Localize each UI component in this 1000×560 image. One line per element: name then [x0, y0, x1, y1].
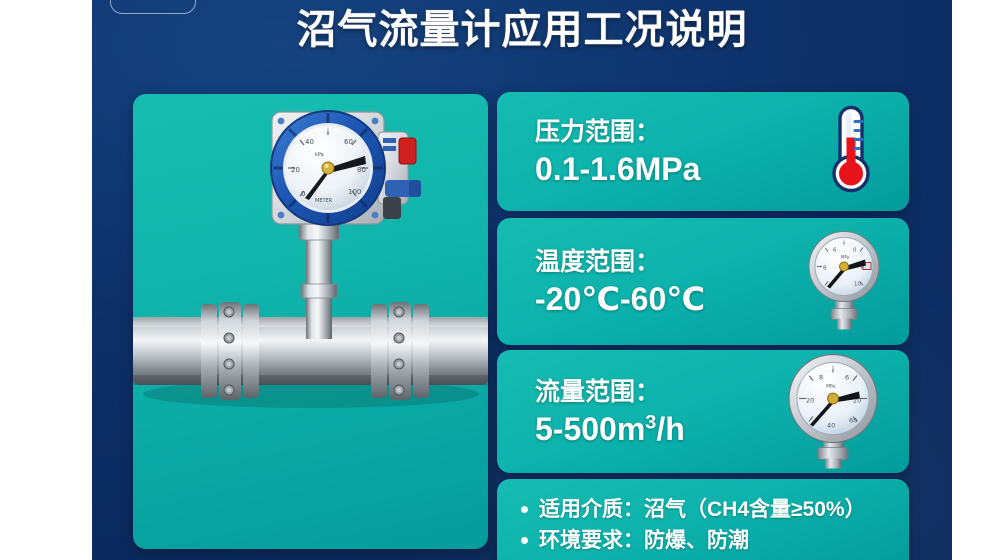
- spec-card-text: 温度范围： -20℃-60℃: [535, 245, 705, 319]
- svg-text:60: 60: [344, 138, 353, 146]
- bullet-dot-icon: [521, 506, 528, 513]
- spec-card-pressure[interactable]: 压力范围： 0.1-1.6MPa: [497, 92, 909, 211]
- svg-text:8: 8: [823, 265, 827, 271]
- spec-label: 流量范围：: [535, 375, 685, 409]
- spec-card-flow[interactable]: 流量范围： 5-500m3/h: [497, 350, 909, 473]
- spec-card-text: 压力范围： 0.1-1.6MPa: [535, 115, 700, 189]
- bullet-dot-icon: [521, 537, 528, 544]
- svg-text:kPa: kPa: [315, 152, 324, 158]
- svg-text:MPa: MPa: [826, 383, 835, 389]
- spec-value: 5-500m3/h: [535, 409, 685, 449]
- note-text: 环境要求：防爆、防潮: [539, 525, 749, 556]
- svg-text:10: 10: [854, 281, 861, 287]
- thermometer-icon: [815, 103, 887, 200]
- notes-card[interactable]: 适用介质：沼气（CH4含量≥50%） 环境要求：防爆、防潮: [497, 479, 909, 560]
- spec-value-main: 5-500m: [535, 411, 645, 447]
- svg-text:6: 6: [845, 373, 849, 381]
- page-title: 沼气流量计应用工况说明: [92, 2, 952, 58]
- spec-value: -20℃-60℃: [535, 279, 705, 319]
- spec-value-unit: /h: [656, 411, 684, 447]
- svg-text:8: 8: [819, 373, 823, 381]
- svg-text:6: 6: [833, 247, 837, 253]
- flow-meter-illustration: 4060 80100 200 kPa METER: [133, 94, 488, 549]
- spec-card-temperature[interactable]: 温度范围： -20℃-60℃: [497, 218, 909, 345]
- spec-value: 0.1-1.6MPa: [535, 149, 700, 189]
- spec-card-text: 流量范围： 5-500m3/h: [535, 375, 685, 449]
- spec-label: 压力范围：: [535, 115, 700, 149]
- svg-text:40: 40: [827, 421, 835, 429]
- spec-value-exponent: 3: [645, 411, 656, 433]
- svg-text:100: 100: [348, 188, 361, 196]
- notes-list: 适用介质：沼气（CH4含量≥50%） 环境要求：防爆、防潮: [519, 494, 866, 556]
- svg-text:60: 60: [849, 416, 857, 424]
- pressure-gauge-icon: 60 80 10MPa: [801, 228, 887, 335]
- svg-text:0: 0: [853, 247, 857, 253]
- list-item: 适用介质：沼气（CH4含量≥50%）: [519, 494, 866, 525]
- svg-text:20: 20: [806, 396, 814, 404]
- flow-meter-panel: 4060 80100 200 kPa METER: [133, 94, 488, 549]
- svg-text:40: 40: [305, 138, 314, 146]
- svg-text:80: 80: [357, 166, 366, 174]
- svg-text:METER: METER: [315, 198, 333, 204]
- note-text: 适用介质：沼气（CH4含量≥50%）: [539, 494, 866, 525]
- svg-text:0: 0: [301, 190, 305, 198]
- spec-label: 温度范围：: [535, 245, 705, 279]
- svg-text:20: 20: [291, 166, 300, 174]
- pressure-gauge-icon: 86 2020 6040 MPa: [779, 350, 887, 473]
- slide-stage: 沼气流量计应用工况说明: [0, 0, 1000, 560]
- svg-text:MPa: MPa: [841, 254, 850, 259]
- list-item: 环境要求：防爆、防潮: [519, 525, 866, 556]
